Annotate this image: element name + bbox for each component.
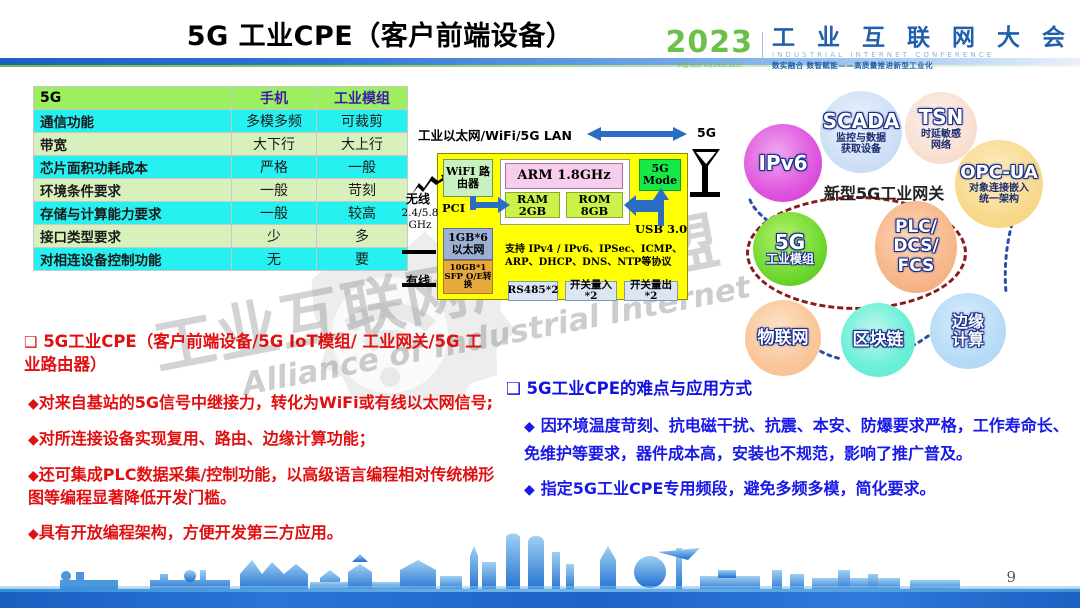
table-cell-module: 大上行 bbox=[317, 133, 408, 156]
table-cell-module: 苛刻 bbox=[317, 179, 408, 202]
5g-mode-block: 5G Mode bbox=[639, 159, 681, 191]
table-cell-label: 存储与计算能力要求 bbox=[34, 202, 232, 225]
diagram-5g-label: 5G bbox=[697, 125, 716, 140]
table-cell-phone: 一般 bbox=[232, 202, 317, 225]
diamond-bullet-icon: ◆ bbox=[28, 526, 39, 542]
bubble-plc-dcs-fcs[interactable]: PLC/ DCS/ FCS bbox=[875, 201, 957, 293]
bidirectional-arrow-icon bbox=[585, 126, 689, 142]
list-item: ◆还可集成PLC数据采集/控制功能，以高级语言编程相对传统梯形图等编程显著降低开… bbox=[28, 464, 498, 510]
table-cell-label: 芯片面积功耗成本 bbox=[34, 156, 232, 179]
table-row: 带宽 大下行 大上行 bbox=[34, 133, 408, 156]
diamond-bullet-icon: ◆ bbox=[28, 396, 39, 412]
bubble-title: 物联网 bbox=[758, 329, 809, 348]
diagram-top-label: 工业以太网/WiFi/5G LAN bbox=[418, 125, 572, 144]
bubble-scada[interactable]: SCADA 监控与数据 获取设备 bbox=[820, 91, 902, 173]
ethernet-block: 1GB*6 以太网 bbox=[443, 228, 493, 260]
table-header-row: 5G 手机 工业模组 bbox=[34, 87, 408, 110]
list-item: ◆具有开放编程架构，方便开发第三方应用。 bbox=[28, 522, 498, 545]
table-cell-label: 对相连设备控制功能 bbox=[34, 248, 232, 271]
table-cell-phone: 少 bbox=[232, 225, 317, 248]
bubble-ipv6[interactable]: IPv6 bbox=[744, 124, 822, 202]
list-item: ◆指定5G工业CPE专用频段，避免多频多模，简化要求。 bbox=[524, 475, 1076, 503]
list-item: ◆对来自基站的5G信号中继接力，转化为WiFi或有线以太网信号; bbox=[28, 392, 498, 415]
protocol-support-text: 支持 IPv4 / IPv6、IPSec、ICMP、ARP、DHCP、DNS、N… bbox=[505, 244, 685, 269]
bubble-title: 5G bbox=[775, 231, 805, 253]
table-cell-label: 环境条件要求 bbox=[34, 179, 232, 202]
page-number: 9 bbox=[1006, 568, 1016, 586]
antenna-icon bbox=[686, 148, 726, 200]
table-cell-phone: 无 bbox=[232, 248, 317, 271]
right-heading-text: 5G工业CPE的难点与应用方式 bbox=[527, 379, 753, 398]
logo-divider bbox=[762, 32, 763, 66]
bubble-title: SCADA bbox=[823, 110, 900, 132]
frequency-label: 2.4/5.8 GHz bbox=[400, 207, 440, 231]
wired-label: 有线 bbox=[406, 272, 430, 289]
diamond-bullet-icon: ◆ bbox=[524, 482, 535, 498]
list-item-text: 指定5G工业CPE专用频段，避免多频多模，简化要求。 bbox=[541, 479, 936, 498]
table-row: 环境条件要求 一般 苛刻 bbox=[34, 179, 408, 202]
table-row: 通信功能 多模多频 可裁剪 bbox=[34, 110, 408, 133]
square-bullet-icon: ❑ bbox=[24, 333, 37, 351]
logo-chinese-title: 工 业 互 联 网 大 会 bbox=[772, 26, 1072, 50]
list-item-text: 因环境温度苛刻、抗电磁干扰、抗震、本安、防爆要求严格，工作寿命长、免维护等要求，… bbox=[524, 416, 1069, 463]
bubble-title: TSN bbox=[919, 106, 964, 128]
diamond-bullet-icon: ◆ bbox=[28, 468, 39, 484]
table-cell-phone: 严格 bbox=[232, 156, 317, 179]
list-item-text: 对来自基站的5G信号中继接力，转化为WiFi或有线以太网信号; bbox=[39, 393, 493, 412]
bubble-subtitle: 时延敏感 网络 bbox=[921, 129, 961, 151]
conference-logo: 2023 中国·苏州 6月14日-16日 工 业 互 联 网 大 会 INDUS… bbox=[665, 26, 1072, 71]
bubble-title: OPC-UA bbox=[960, 163, 1038, 183]
logo-year: 2023 bbox=[665, 28, 753, 58]
table-cell-phone: 一般 bbox=[232, 179, 317, 202]
left-heading: ❑ 5G工业CPE（客户前端设备/5G IoT模组/ 工业网关/5G 工业路由器… bbox=[24, 330, 494, 376]
bubble-iot[interactable]: 物联网 bbox=[745, 300, 821, 376]
table-cell-module: 可裁剪 bbox=[317, 110, 408, 133]
table-header-cell: 手机 bbox=[232, 87, 317, 110]
left-bullet-list: ◆对来自基站的5G信号中继接力，转化为WiFi或有线以太网信号; ◆对所连接设备… bbox=[28, 392, 498, 558]
comparison-table: 5G 手机 工业模组 通信功能 多模多频 可裁剪 带宽 大下行 大上行 芯片面积… bbox=[33, 86, 408, 271]
pci-bus-label: PCI bbox=[442, 201, 465, 215]
gateway-center-label: 新型5G工业网关 bbox=[824, 180, 944, 204]
rs485-block: RS485*2 bbox=[508, 281, 558, 301]
bubble-title: IPv6 bbox=[758, 152, 807, 174]
ram-block: RAM 2GB bbox=[505, 192, 560, 218]
bubble-title: PLC/ DCS/ FCS bbox=[893, 218, 938, 275]
logo-year-subtitle: 中国·苏州 6月14日-16日 bbox=[665, 61, 753, 69]
table-cell-label: 接口类型要求 bbox=[34, 225, 232, 248]
list-item-text: 具有开放编程架构，方便开发第三方应用。 bbox=[39, 523, 343, 542]
list-item: ◆对所连接设备实现复用、路由、边缘计算功能； bbox=[28, 428, 498, 451]
logo-english-title: INDUSTRIAL INTERNET CONFERENCE bbox=[772, 51, 1072, 59]
table-row: 对相连设备控制功能 无 要 bbox=[34, 248, 408, 271]
table-cell-label: 带宽 bbox=[34, 133, 232, 156]
left-heading-text: 5G工业CPE（客户前端设备/5G IoT模组/ 工业网关/5G 工业路由器） bbox=[24, 332, 482, 374]
bubble-5g-module[interactable]: 5G 工业模组 bbox=[753, 212, 827, 286]
bubble-title: 区块链 bbox=[853, 331, 904, 350]
square-bullet-icon: ❑ bbox=[506, 379, 521, 398]
page-title: 5G 工业CPE（客户前端设备） bbox=[0, 14, 760, 53]
sfp-block: 10GB*1 SFP O/E转换 bbox=[443, 260, 493, 294]
table-cell-module: 多 bbox=[317, 225, 408, 248]
logo-slogan: 数实融合 数智赋能——高质量推进新型工业化 bbox=[772, 60, 1072, 71]
mode-up-arrow-icon bbox=[652, 188, 670, 226]
table-header-cell: 5G bbox=[34, 87, 232, 110]
bubble-subtitle: 对象连接嵌入 统一架构 bbox=[969, 183, 1029, 205]
table-cell-module: 一般 bbox=[317, 156, 408, 179]
wifi-router-block: WiFI 路由器 bbox=[443, 159, 493, 197]
table-row: 芯片面积功耗成本 严格 一般 bbox=[34, 156, 408, 179]
wireless-label: 无线 bbox=[406, 190, 430, 207]
list-item-text: 还可集成PLC数据采集/控制功能，以高级语言编程相对传统梯形图等编程显著降低开发… bbox=[28, 465, 494, 507]
table-cell-phone: 大下行 bbox=[232, 133, 317, 156]
bubble-subtitle: 工业模组 bbox=[766, 253, 814, 266]
table-cell-module: 要 bbox=[317, 248, 408, 271]
arm-cpu-block: ARM 1.8GHz bbox=[505, 163, 623, 189]
connector-dotted-2 bbox=[1000, 222, 1022, 294]
diamond-bullet-icon: ◆ bbox=[28, 432, 39, 448]
bubble-blockchain[interactable]: 区块链 bbox=[841, 303, 915, 377]
table-cell-module: 较高 bbox=[317, 202, 408, 225]
rom-block: ROM 8GB bbox=[566, 192, 623, 218]
bubble-edge-computing[interactable]: 边缘 计算 bbox=[930, 293, 1006, 369]
footer-bar bbox=[0, 592, 1080, 608]
digital-output-block: 开关量出 *2 bbox=[624, 281, 678, 301]
right-heading: ❑ 5G工业CPE的难点与应用方式 bbox=[506, 375, 1066, 399]
table-row: 接口类型要求 少 多 bbox=[34, 225, 408, 248]
list-item-text: 对所连接设备实现复用、路由、边缘计算功能； bbox=[39, 429, 375, 448]
pci-arrow-icon bbox=[468, 194, 512, 216]
table-header-cell: 工业模组 bbox=[317, 87, 408, 110]
digital-input-block: 开关量入 *2 bbox=[565, 281, 617, 301]
table-cell-phone: 多模多频 bbox=[232, 110, 317, 133]
table-row: 存储与计算能力要求 一般 较高 bbox=[34, 202, 408, 225]
bubble-title: 边缘 计算 bbox=[952, 313, 984, 349]
list-item: ◆因环境温度苛刻、抗电磁干扰、抗震、本安、防爆要求严格，工作寿命长、免维护等要求… bbox=[524, 412, 1076, 467]
wired-line-1 bbox=[402, 250, 436, 254]
bubble-subtitle: 监控与数据 获取设备 bbox=[836, 133, 886, 155]
bubble-opc-ua[interactable]: OPC-UA 对象连接嵌入 统一架构 bbox=[955, 140, 1043, 228]
right-bullet-list: ◆因环境温度苛刻、抗电磁干扰、抗震、本安、防爆要求严格，工作寿命长、免维护等要求… bbox=[524, 412, 1076, 511]
table-cell-label: 通信功能 bbox=[34, 110, 232, 133]
diamond-bullet-icon: ◆ bbox=[524, 419, 535, 435]
